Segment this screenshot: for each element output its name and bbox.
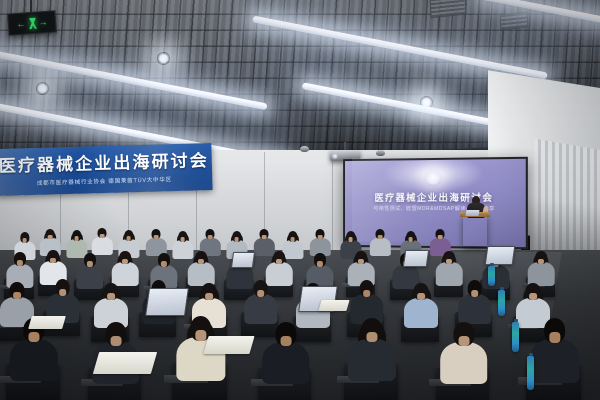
attendee-skin: [471, 290, 479, 297]
attendee-skin: [549, 332, 560, 342]
attendee-skin: [262, 235, 267, 239]
attendee-water-bottle: [498, 290, 505, 316]
attendee-skin: [13, 292, 21, 299]
attendee-skin: [59, 289, 67, 296]
attendee-skin: [378, 235, 383, 239]
attendee-skin: [318, 235, 323, 239]
ceiling-spotlight: [36, 82, 49, 95]
attendee-torso: [458, 294, 491, 323]
attendee-skin: [367, 332, 378, 342]
attendee: [92, 228, 112, 256]
attendee-skin: [538, 259, 544, 265]
attendee-skin: [208, 235, 213, 239]
attendee: [404, 283, 438, 330]
attendee-skin: [438, 235, 443, 239]
event-banner: 医疗器械企业出海研讨会 成都市医疗器械行业协会 德国莱茵TÜV大中华区: [0, 143, 213, 196]
attendee-skin: [180, 237, 185, 241]
wall-seam: [332, 154, 333, 260]
attendee-skin: [290, 237, 295, 241]
podium: [463, 215, 487, 246]
seminar-photograph: ← → 医疗器械企业出海研讨会 成都市医疗器械行业协会 德国莱茵TÜV大中华区 …: [0, 0, 600, 400]
attendee-water-bottle: [527, 356, 534, 390]
attendee-skin: [257, 290, 265, 297]
running-person-icon: [27, 17, 37, 29]
exit-sign: ← →: [7, 10, 56, 35]
attendee-skin: [100, 234, 105, 238]
attendee-notebook: [203, 336, 254, 354]
attendee-water-bottle: [512, 322, 519, 352]
attendee-notebook: [28, 316, 66, 329]
attendee-skin: [48, 235, 53, 239]
attendee-skin: [74, 236, 79, 240]
banner-subtitle: 成都市医疗器械行业协会 德国莱茵TÜV大中华区: [37, 175, 172, 187]
attendee-notebook: [93, 352, 157, 374]
attendee-skin: [205, 293, 213, 300]
attendee-skin: [86, 261, 92, 267]
attendee-skin: [363, 290, 371, 297]
attendee: [458, 280, 491, 326]
attendee-skin: [417, 293, 425, 300]
attendee-torso: [440, 342, 488, 384]
attendee-skin: [110, 336, 121, 346]
attendee-skin: [348, 237, 353, 241]
attendee-skin: [529, 293, 537, 300]
exit-arrow-left-icon: ←: [16, 19, 26, 29]
attendee-torso: [262, 342, 310, 384]
ceiling-spotlight: [157, 52, 170, 65]
attendee-skin: [22, 238, 27, 242]
attendee-laptop: [485, 246, 516, 265]
banner-title: 医疗器械企业出海研讨会: [0, 152, 209, 175]
attendee-laptop: [145, 288, 189, 316]
attendee-skin: [276, 259, 282, 265]
attendee: [262, 322, 310, 388]
attendee-water-bottle: [488, 266, 495, 286]
attendee: [348, 318, 396, 385]
attendee-skin: [358, 259, 364, 265]
attendee-torso: [244, 294, 277, 323]
exit-arrow-right-icon: →: [38, 17, 48, 27]
attendee-skin: [408, 237, 413, 241]
attendee: [530, 318, 579, 386]
attendee-skin: [458, 336, 469, 346]
attendee-skin: [198, 259, 204, 265]
attendee-skin: [29, 332, 40, 342]
ceiling-spotlight: [420, 96, 433, 109]
attendee-skin: [160, 261, 166, 267]
projector-lens-icon: [332, 153, 338, 159]
attendee: [244, 280, 277, 326]
attendee-skin: [316, 261, 322, 267]
podium-laptop: [465, 210, 479, 216]
attendee-skin: [122, 259, 128, 265]
attendee-skin: [126, 236, 131, 240]
attendee-laptop: [231, 252, 255, 268]
ceiling-camera: [376, 150, 385, 156]
attendee-skin: [50, 258, 56, 264]
attendee: [440, 322, 488, 388]
attendee-torso: [530, 339, 579, 383]
attendee-skin: [16, 260, 22, 266]
attendee-torso: [348, 339, 396, 382]
attendee-torso: [404, 298, 438, 328]
attendee-skin: [280, 336, 291, 346]
attendee-skin: [234, 237, 239, 241]
attendee-torso: [10, 339, 58, 382]
attendee-notebook: [318, 300, 349, 311]
attendee-laptop: [403, 250, 429, 267]
ceiling-camera: [300, 146, 309, 152]
attendee-skin: [195, 330, 206, 340]
attendee-skin: [107, 293, 115, 300]
attendee-skin: [154, 235, 159, 239]
attendee-skin: [446, 259, 452, 265]
